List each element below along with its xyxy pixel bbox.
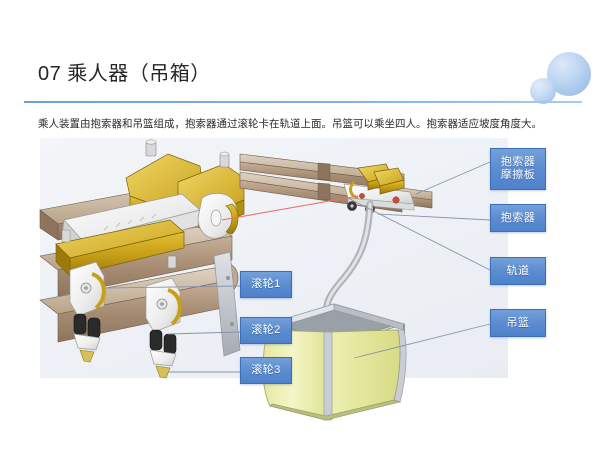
hanger-arm (318, 204, 370, 324)
callout-roller-3-label: 滚轮3 (251, 364, 281, 377)
callout-cabin-label: 吊篮 (507, 317, 530, 330)
callout-track[interactable]: 轨道 (490, 257, 546, 285)
page-title: 07 乘人器（吊箱） (38, 60, 211, 88)
callout-track-label: 轨道 (507, 265, 530, 278)
callout-cabin[interactable]: 吊篮 (490, 309, 546, 337)
callout-roller-1[interactable]: 滚轮1 (240, 271, 292, 298)
callout-gripper-label: 抱索器 (501, 212, 536, 225)
friction-shoe-right (198, 193, 238, 238)
slide-canvas: 07 乘人器（吊箱） 乘人装置由抱索器和吊篮组成，抱索器通过滚轮卡在轨道上面。吊… (0, 0, 600, 450)
callout-roller-2-label: 滚轮2 (251, 324, 281, 337)
roller-assembly-2 (146, 278, 180, 378)
title-divider (24, 101, 582, 103)
callout-roller-2[interactable]: 滚轮2 (240, 317, 292, 344)
callout-gripper[interactable]: 抱索器 (490, 204, 546, 232)
callout-roller-1-label: 滚轮1 (251, 278, 281, 291)
gripper-detail-view (40, 140, 244, 378)
callout-friction-plate-line1: 抱索器 (501, 156, 536, 169)
callout-roller-3[interactable]: 滚轮3 (240, 357, 292, 384)
callout-friction-plate-line2: 摩擦板 (501, 169, 536, 182)
slide-subtitle: 乘人装置由抱索器和吊篮组成，抱索器通过滚轮卡在轨道上面。吊篮可以乘坐四人。抱索器… (38, 116, 578, 132)
callout-friction-plate[interactable]: 抱索器 摩擦板 (490, 148, 546, 190)
